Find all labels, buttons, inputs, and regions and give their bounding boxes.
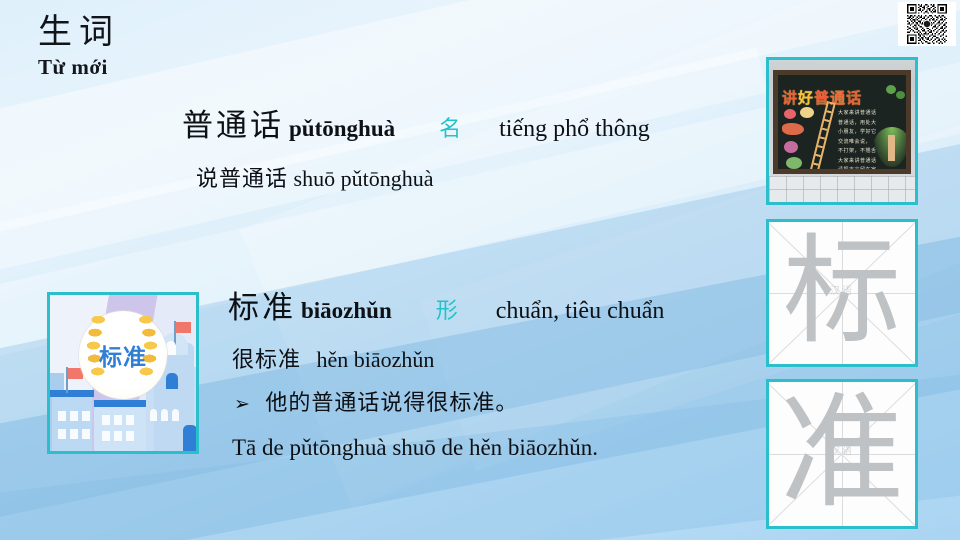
chalkboard-flower-drawing xyxy=(782,123,804,135)
headword-pinyin: biāozhǔn xyxy=(301,298,392,324)
qr-code[interactable] xyxy=(898,2,956,46)
illustration-archway xyxy=(183,425,197,451)
headword-chinese: 普通话 xyxy=(182,100,284,145)
collocation-pinyin: hěn biāozhǔn xyxy=(317,347,435,372)
headword-pinyin: pǔtōnghuà xyxy=(289,116,395,142)
illustration-building xyxy=(94,403,146,451)
photo-floor-tiles xyxy=(769,176,915,202)
illustration-window xyxy=(70,411,78,421)
grid-character: 准 xyxy=(769,382,915,526)
illustration-window xyxy=(126,415,134,425)
vocab-entry-2-example-chinese: ➢ 他的普通话说得很标准。 xyxy=(234,385,518,417)
illustration-building xyxy=(52,393,92,451)
headword-translation: chuẩn, tiêu chuẩn xyxy=(496,298,665,325)
illustration-window xyxy=(82,411,90,421)
illustration-window xyxy=(114,431,122,441)
part-of-speech-badge: 名 xyxy=(439,111,461,143)
character-practice-grid-1[interactable]: 汉语 标 xyxy=(766,219,918,367)
vocab-entry-1-headword: 普通话 pǔtōnghuà 名 tiếng phổ thông xyxy=(182,100,650,145)
illustration-window xyxy=(126,431,134,441)
illustration-window xyxy=(58,429,66,439)
chalkboard-flower-drawing xyxy=(784,109,796,119)
illustration-flag xyxy=(176,322,191,333)
illustration-window xyxy=(82,429,90,439)
photo-chalkboard: 讲好普通话 大家来讲普通话普通话，用处大小朋友，学好它交流唯会说，不打架，不翘舌… xyxy=(773,70,911,174)
title-chinese: 生词 xyxy=(38,14,120,51)
illustration-window xyxy=(150,409,157,421)
illustration-roof-band xyxy=(94,400,146,407)
headword-chinese: 标准 xyxy=(228,282,296,327)
medallion-label: 标准 xyxy=(79,311,167,399)
collocation-chinese: 很标准 xyxy=(232,347,301,372)
illustration-window xyxy=(166,341,176,355)
character-practice-grid-2[interactable]: 汉语 准 xyxy=(766,379,918,529)
part-of-speech-badge: 形 xyxy=(436,293,458,325)
illustration-window xyxy=(161,409,168,421)
chalkboard-willow-trunk xyxy=(888,135,895,161)
collocation-chinese: 说普通话 xyxy=(196,166,288,191)
chalkboard-headline: 讲好普通话 xyxy=(782,87,862,108)
grid-character: 标 xyxy=(769,222,915,364)
collocation-pinyin: shuō pǔtōnghuà xyxy=(294,166,434,191)
illustration-window xyxy=(70,429,78,439)
illustration-window xyxy=(58,411,66,421)
vocab-entry-2-collocation: 很标准 hěn biāozhǔn xyxy=(232,342,434,374)
illustration-window xyxy=(102,415,110,425)
chalkboard-flower-drawing xyxy=(784,141,798,153)
illustration-window xyxy=(114,415,122,425)
illustration-archway xyxy=(166,373,178,389)
page-title: 生词 Từ mới xyxy=(38,14,120,80)
illustration-window xyxy=(102,431,110,441)
title-vietnamese: Từ mới xyxy=(38,55,120,80)
chalkboard-leaf-drawing xyxy=(896,91,905,99)
chalkboard-flower-drawing xyxy=(800,107,814,118)
headword-translation: tiếng phổ thông xyxy=(499,116,650,143)
chalkboard-flower-drawing xyxy=(786,157,802,169)
vocab-entry-1-collocation: 说普通话 shuō pǔtōnghuà xyxy=(196,161,433,193)
bullet-arrow-icon: ➢ xyxy=(234,394,251,415)
example-sentence-pinyin: Tā de pǔtōnghuà shuō de hěn biāozhǔn. xyxy=(232,435,598,461)
standard-illustration[interactable]: 标准 xyxy=(47,292,199,454)
slide-root: 生词 Từ mới xyxy=(0,0,960,540)
vocab-entry-2-headword: 标准 biāozhǔn 形 chuẩn, tiêu chuẩn xyxy=(228,282,664,327)
blackboard-photo[interactable]: 讲好普通话 大家来讲普通话普通话，用处大小朋友，学好它交流唯会说，不打架，不翘舌… xyxy=(766,57,918,205)
illustration-window xyxy=(172,409,179,421)
example-sentence-chinese: 他的普通话说得很标准。 xyxy=(265,390,518,415)
qr-code-icon xyxy=(900,4,954,44)
chalkboard-leaf-drawing xyxy=(886,85,896,94)
